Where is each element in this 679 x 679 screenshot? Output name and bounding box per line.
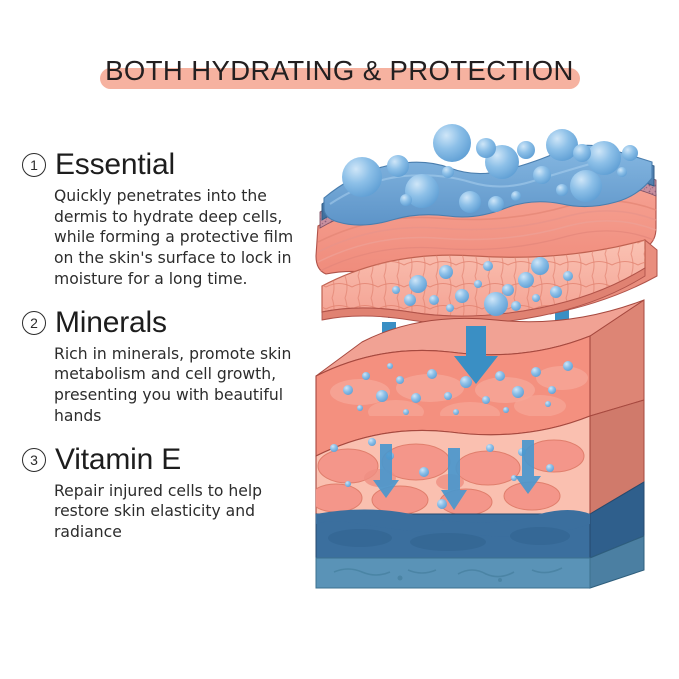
feature-item-essential: 1 Essential Quickly penetrates into the …: [22, 148, 312, 290]
feature-item-minerals: 2 Minerals Rich in minerals, promote ski…: [22, 306, 312, 427]
title-text: BOTH HYDRATING & PROTECTION: [105, 55, 574, 87]
feature-item-vitamin-e: 3 Vitamin E Repair injured cells to help…: [22, 443, 312, 543]
feature-body-3: Repair injured cells to help restore ski…: [54, 481, 304, 543]
skin-layers-illustration: [300, 100, 679, 600]
feature-title-1: Essential: [55, 148, 175, 181]
number-badge-2: 2: [22, 311, 46, 335]
feature-heading: 2 Minerals: [22, 306, 312, 339]
number-badge-3: 3: [22, 448, 46, 472]
feature-title-2: Minerals: [55, 306, 167, 339]
poster-root: BOTH HYDRATING & PROTECTION 1 Essential …: [0, 0, 679, 679]
feature-body-1: Quickly penetrates into the dermis to hy…: [54, 186, 300, 290]
page-title: BOTH HYDRATING & PROTECTION: [0, 46, 679, 96]
feature-heading: 1 Essential: [22, 148, 312, 181]
feature-list: 1 Essential Quickly penetrates into the …: [22, 148, 312, 552]
number-badge-1: 1: [22, 153, 46, 177]
skin-block-group: [310, 300, 644, 588]
feature-heading: 3 Vitamin E: [22, 443, 312, 476]
feature-body-2: Rich in minerals, promote skin metabolis…: [54, 344, 304, 427]
feature-title-3: Vitamin E: [55, 443, 181, 476]
